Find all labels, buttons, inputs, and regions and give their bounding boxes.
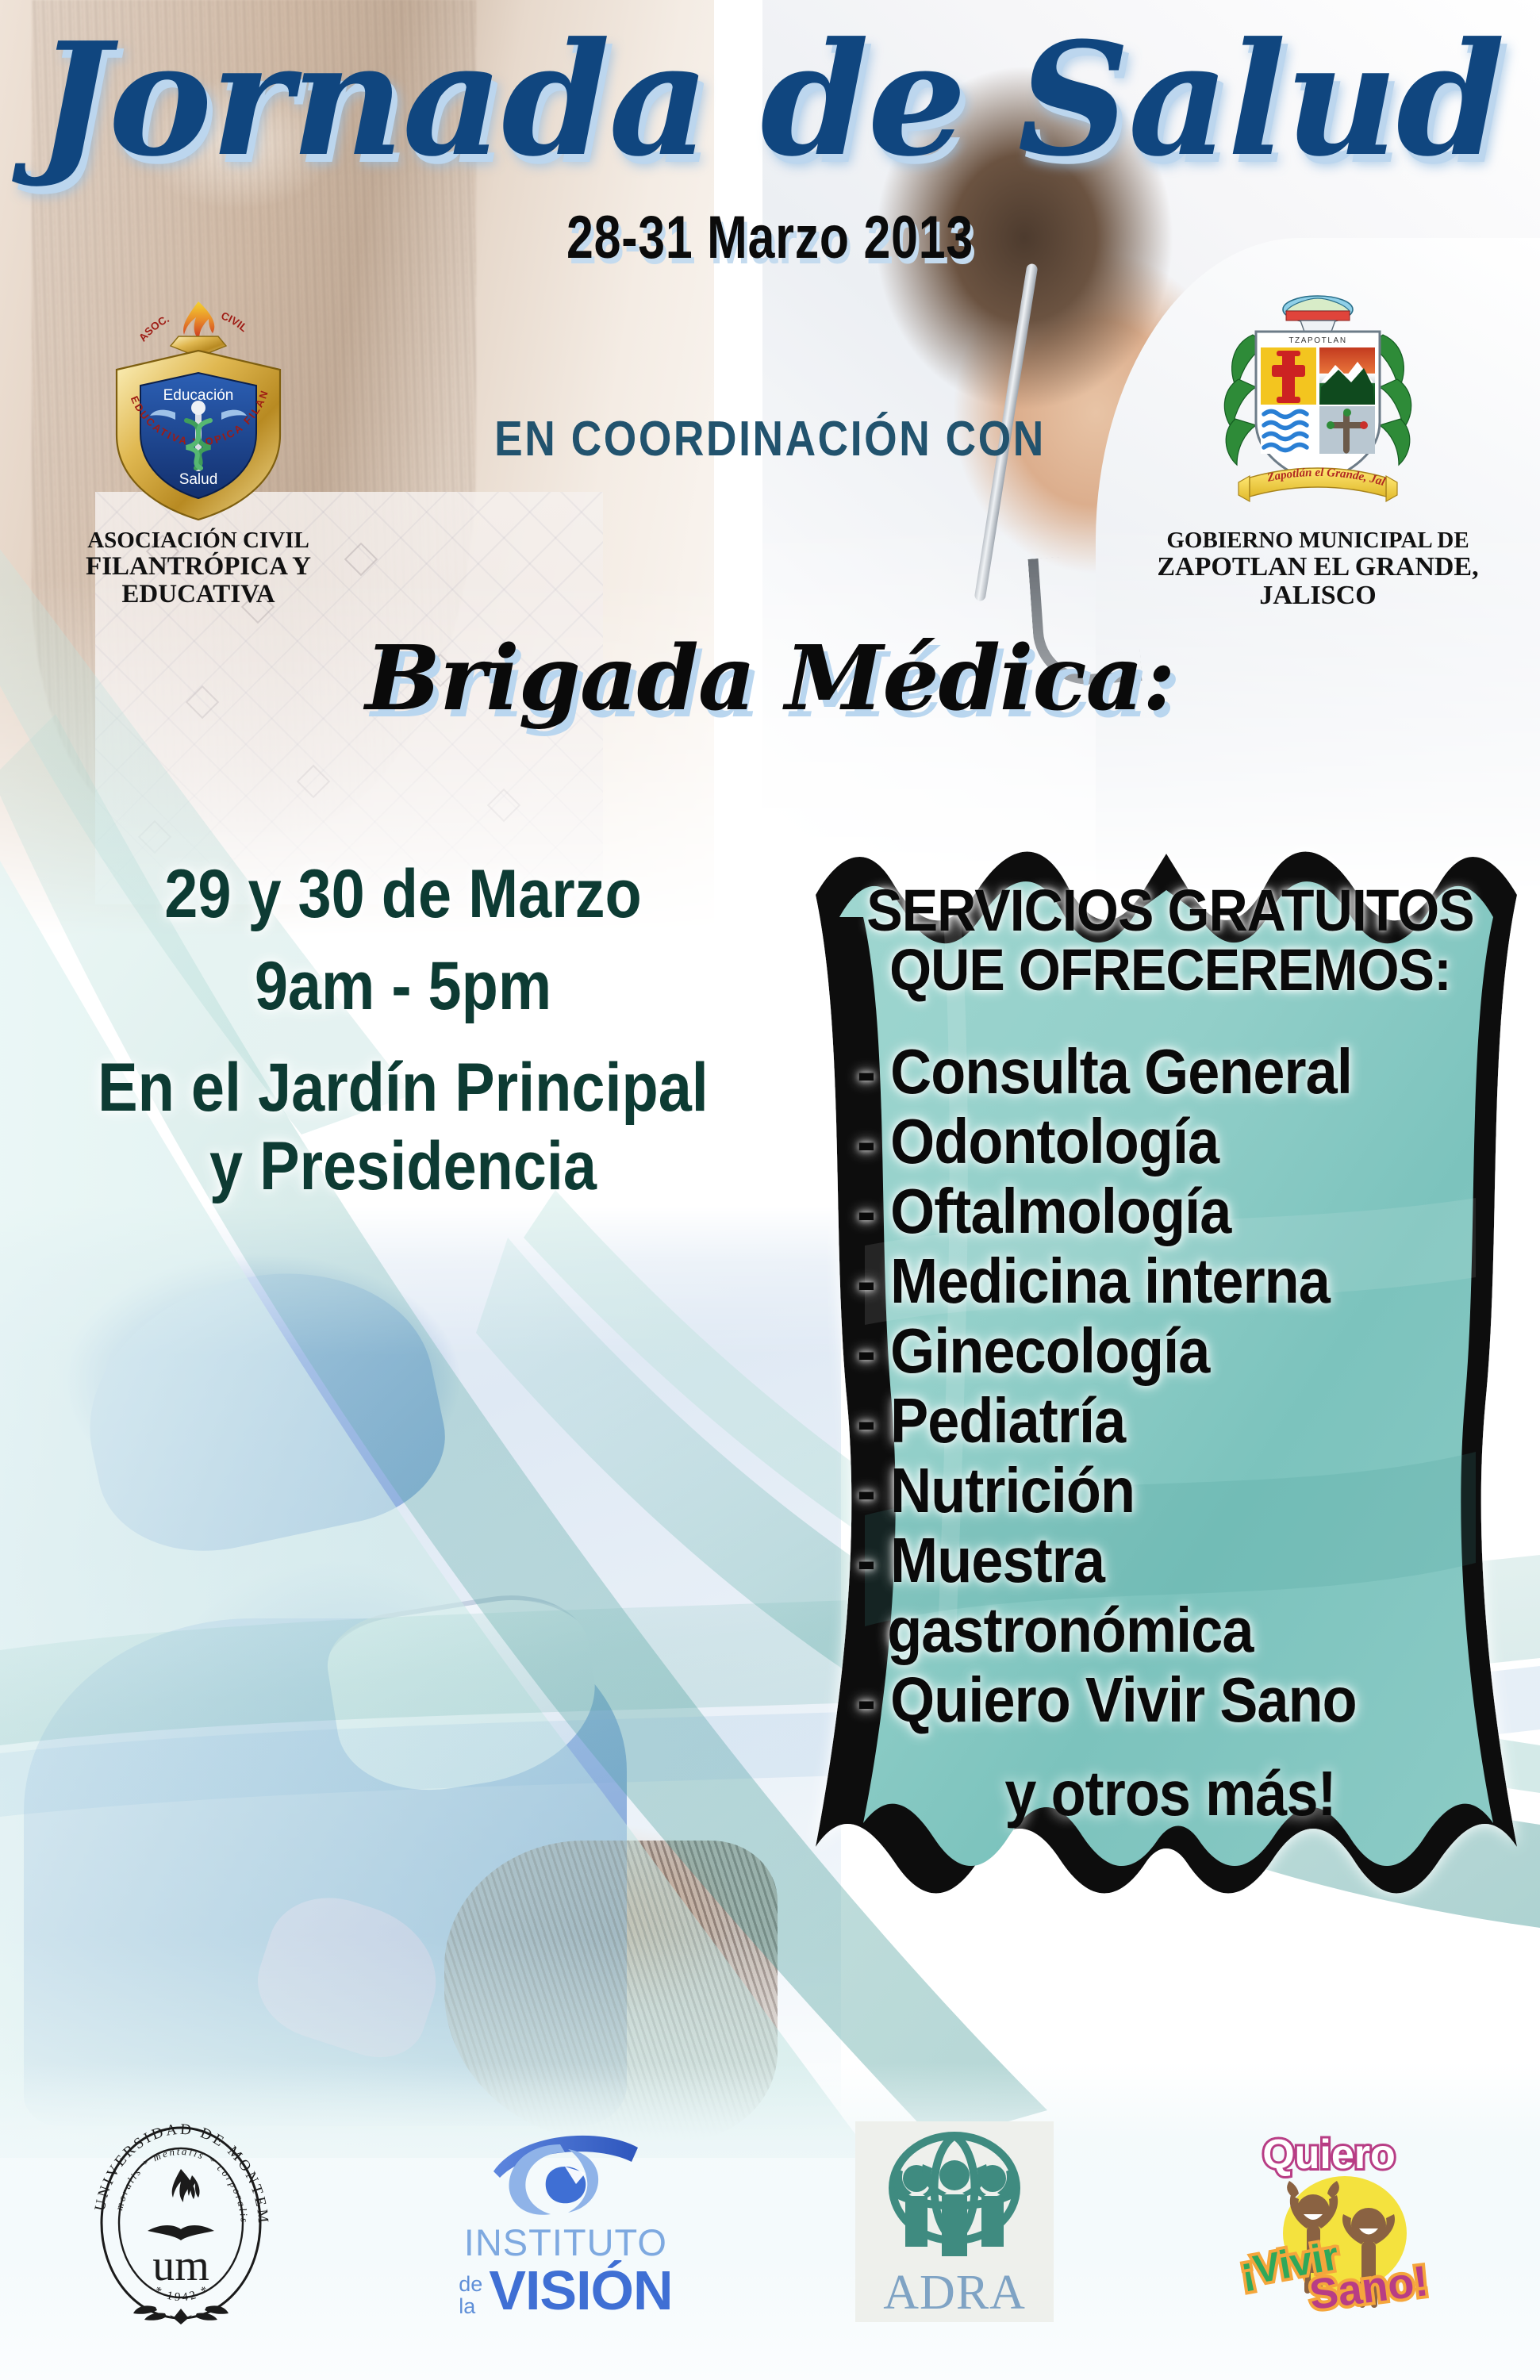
- services-content: SERVICIOS GRATUITOS QUE OFRECEREMOS: - C…: [839, 881, 1501, 1830]
- instituto-de-la-vision-logo: INSTITUTO de la VISIÓN: [447, 2125, 685, 2318]
- quiero-vivir-sano-logo: Quiero ¡Vivir Sano!: [1224, 2122, 1454, 2320]
- org-right-name-line3: JALISCO: [1127, 582, 1508, 610]
- org-right-name-line2: ZAPOTLAN EL GRANDE,: [1127, 553, 1508, 582]
- page-title: Jornada de Salud: [0, 22, 1540, 178]
- photo-dentist-treating-patient: [0, 1206, 841, 2142]
- instituto-vision-wordmark: INSTITUTO de la VISIÓN: [447, 2224, 685, 2318]
- services-closing: y otros más!: [873, 1757, 1469, 1830]
- svg-text:TZAPOTLAN: TZAPOTLAN: [1288, 336, 1346, 345]
- org-left-name-line1: ASOCIACIÓN CIVIL: [48, 528, 349, 553]
- instituto-label: INSTITUTO: [447, 2224, 685, 2261]
- org-right-block: TZAPOTLAN: [1127, 286, 1508, 610]
- org-right-name: GOBIERNO MUNICIPAL DE ZAPOTLAN EL GRANDE…: [1127, 528, 1508, 610]
- service-item: - Consulta General: [857, 1037, 1437, 1107]
- services-list: - Consulta General - Odontología - Oftal…: [839, 1037, 1501, 1735]
- services-heading-line1: SERVICIOS GRATUITOS: [866, 881, 1474, 940]
- universidad-de-montemorelos-seal: UNIVERSIDAD DE MONTEMORELOS moralis * me…: [86, 2117, 276, 2327]
- org-left-name-line2: FILANTRÓPICA Y: [48, 553, 349, 581]
- de-la-label: de la: [459, 2273, 482, 2318]
- event-dates: 29 y 30 de Marzo: [68, 855, 739, 935]
- services-heading: SERVICIOS GRATUITOS QUE OFRECEREMOS:: [866, 881, 1474, 1000]
- service-item: - Pediatría: [857, 1386, 1437, 1456]
- services-plaque: SERVICIOS GRATUITOS QUE OFRECEREMOS: - C…: [793, 801, 1539, 1952]
- health-fair-poster: Jornada de Salud 28-31 Marzo 2013 EN COO…: [0, 0, 1540, 2380]
- adra-globe-figures-icon: [881, 2129, 1028, 2268]
- qvs-quiero-text: Quiero: [1263, 2132, 1396, 2178]
- footer-sponsor-logos: UNIVERSIDAD DE MONTEMORELOS moralis * me…: [0, 2063, 1540, 2380]
- event-hours: 9am - 5pm: [68, 947, 739, 1027]
- org-left-name-line3: EDUCATIVA: [48, 581, 349, 608]
- service-item: - Odontología: [857, 1107, 1437, 1177]
- service-item: - Medicina interna: [857, 1246, 1437, 1316]
- adra-logo: ADRA: [855, 2121, 1054, 2322]
- vision-label: VISIÓN: [489, 2263, 672, 2318]
- service-item: - Quiero Vivir Sano: [857, 1665, 1437, 1735]
- svg-text:ASOC.: ASOC.: [136, 313, 171, 344]
- service-item: - Nutrición: [857, 1456, 1437, 1526]
- svg-text:CIVIL: CIVIL: [220, 309, 250, 334]
- service-item: - Oftalmología: [857, 1177, 1437, 1246]
- brigada-heading: Brigada Médica:: [0, 627, 1540, 731]
- adra-label: ADRA: [855, 2268, 1054, 2317]
- eye-icon: [482, 2125, 649, 2221]
- dentist-surgical-cap: [64, 1244, 460, 1572]
- org-left-name: ASOCIACIÓN CIVIL FILANTRÓPICA Y EDUCATIV…: [48, 528, 349, 608]
- svg-text:Salud: Salud: [179, 471, 218, 488]
- zapotlan-coat-of-arms: TZAPOTLAN: [1207, 286, 1429, 524]
- services-heading-line2: QUE OFRECEREMOS:: [866, 940, 1474, 1000]
- um-monogram: um: [152, 2241, 209, 2290]
- event-date: 28-31 Marzo 2013: [154, 208, 1386, 268]
- org-left-block: ASOC. CIVIL EDUCATIVA Y OPICA FILANTR Ed…: [48, 294, 349, 608]
- event-info-block: 29 y 30 de Marzo 9am - 5pm En el Jardín …: [22, 855, 784, 1207]
- event-place-line1: En el Jardín Principal: [68, 1049, 739, 1128]
- asociacion-civil-shield-logo: ASOC. CIVIL EDUCATIVA Y OPICA FILANTR Ed…: [99, 294, 298, 524]
- service-item: - Muestra gastronómica: [857, 1526, 1437, 1665]
- event-place-line2: y Presidencia: [68, 1127, 739, 1207]
- org-right-name-line1: GOBIERNO MUNICIPAL DE: [1127, 528, 1508, 553]
- service-item: - Ginecología: [857, 1316, 1437, 1386]
